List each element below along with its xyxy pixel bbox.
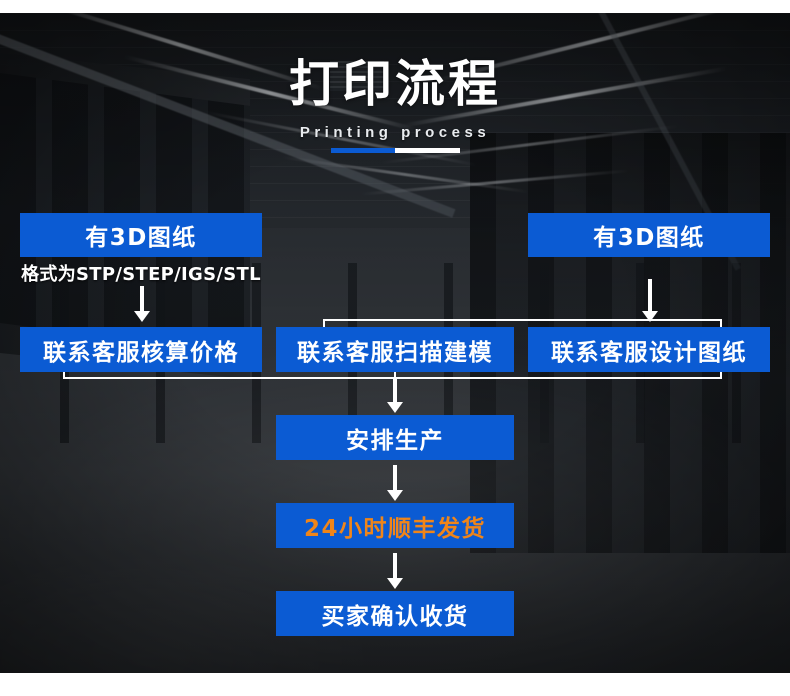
top-white-bar — [0, 0, 790, 13]
page-subtitle: Printing process — [0, 124, 790, 142]
divider-segment-white — [395, 148, 460, 153]
arrow-head — [387, 490, 403, 501]
flow-box-arrange-production: 安排生产 — [276, 415, 514, 460]
arrow-down-icon-to-confirm — [385, 553, 405, 589]
arrow-down-icon-to-produce — [385, 377, 405, 413]
arrow-head — [387, 402, 403, 413]
flow-caption-file-formats: 格式为STP/STEP/IGS/STL — [12, 260, 270, 286]
title-divider — [331, 148, 460, 153]
flow-box-right-has-3d-drawing: 有3D图纸 — [528, 213, 770, 257]
arrow-down-icon-to-ship — [385, 465, 405, 501]
bottom-white-bar — [0, 673, 790, 696]
arrow-down-icon-left — [132, 286, 152, 322]
flow-box-buyer-confirm: 买家确认收货 — [276, 591, 514, 636]
flow-box-left-has-3d-drawing: 有3D图纸 — [20, 213, 262, 257]
flow-box-contact-service-design: 联系客服设计图纸 — [528, 327, 770, 372]
flowchart-banner: 打印流程 Printing process — [0, 0, 790, 696]
content-layer: 打印流程 Printing process — [0, 0, 790, 696]
arrow-down-icon-right — [640, 279, 660, 322]
divider-segment-blue — [331, 148, 395, 153]
arrow-shaft — [393, 553, 397, 578]
arrow-head — [642, 311, 658, 322]
arrow-shaft — [393, 465, 397, 490]
arrow-shaft — [648, 279, 652, 311]
arrow-shaft — [140, 286, 144, 311]
flow-box-contact-service-quote: 联系客服核算价格 — [20, 327, 262, 372]
connector-top-horizontal — [323, 319, 722, 321]
arrow-head — [387, 578, 403, 589]
header: 打印流程 Printing process — [0, 56, 790, 142]
flow-box-contact-service-scan: 联系客服扫描建模 — [276, 327, 514, 372]
arrow-shaft — [393, 377, 397, 402]
page-title: 打印流程 — [0, 56, 790, 112]
flow-box-24h-shipping: 24小时顺丰发货 — [276, 503, 514, 548]
arrow-head — [134, 311, 150, 322]
